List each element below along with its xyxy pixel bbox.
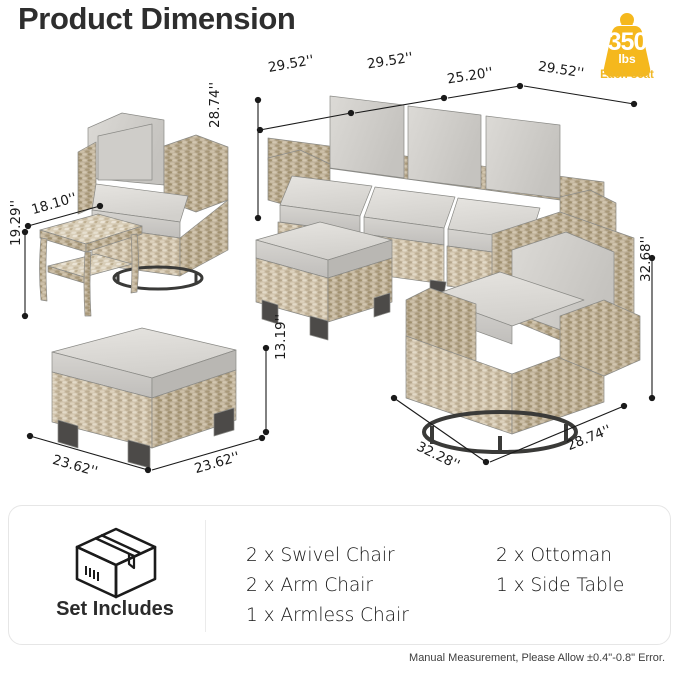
- set-item: 2 x Swivel Chair: [246, 541, 409, 571]
- dim-label-sofa-height: 28.74'': [207, 82, 223, 128]
- measurement-footnote: Manual Measurement, Please Allow ±0.4"-0…: [409, 652, 665, 664]
- set-includes-column-1: 2 x Swivel Chair 2 x Arm Chair 1 x Armle…: [246, 541, 409, 631]
- infographic-root: Product Dimension 350 lbs Each seat: [0, 0, 679, 679]
- panel-divider: [205, 520, 206, 632]
- set-includes-column-2: 2 x Ottoman 1 x Side Table: [496, 541, 624, 601]
- dim-label-swivel-chair-height: 32.68'': [638, 236, 654, 282]
- dim-label-side-table-height: 19.29'': [8, 200, 24, 246]
- set-includes-panel: Set Includes 2 x Swivel Chair 2 x Arm Ch…: [8, 505, 671, 645]
- set-item: 2 x Arm Chair: [246, 571, 409, 601]
- set-item: 2 x Ottoman: [496, 541, 624, 571]
- set-item: 1 x Armless Chair: [246, 601, 409, 631]
- set-item: 1 x Side Table: [496, 571, 624, 601]
- side-table-illustration: [40, 214, 143, 316]
- dim-label-ottoman-height: 13.19'': [273, 314, 289, 360]
- package-box-icon: [71, 523, 161, 601]
- ottoman-left-illustration: [52, 328, 236, 468]
- set-includes-title: Set Includes: [29, 598, 201, 621]
- barcode-marks: [86, 566, 98, 581]
